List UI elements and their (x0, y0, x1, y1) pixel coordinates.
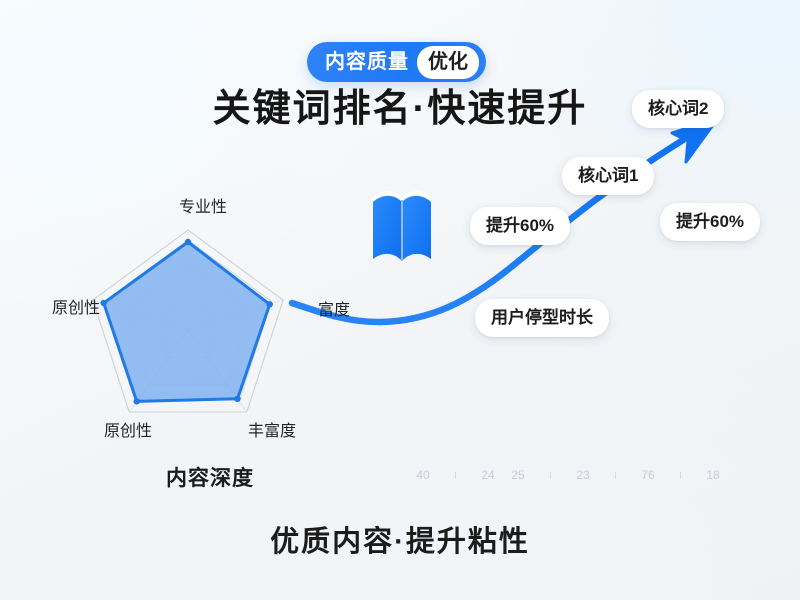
axis-tick-2: 25 (503, 469, 533, 481)
content-depth-label: 内容深度 (166, 468, 254, 489)
badge-main-label: 内容质量 (325, 52, 409, 72)
faint-axis-strip: 40 24 25 23 76 18 (408, 464, 768, 486)
radar-data-points (101, 239, 273, 405)
axis-tick-1: 24 (473, 469, 503, 481)
axis-tick-5: 18 (698, 469, 728, 481)
axis-tick-4: 76 (633, 469, 663, 481)
radar-axis-label-abundance: 丰富度 (248, 424, 296, 440)
radar-axis-label-originality-bottom: 原创性 (104, 424, 152, 440)
pill-keyword-1[interactable]: 核心词1 (562, 157, 654, 195)
radar-spokes (93, 230, 283, 412)
pill-uplift-left[interactable]: 提升60% (470, 207, 570, 245)
axis-tick-0: 40 (408, 469, 438, 481)
pill-user-duration[interactable]: 用户停型时长 (475, 299, 609, 337)
radar-grid (93, 230, 283, 412)
pill-keyword-2[interactable]: 核心词2 (632, 90, 724, 128)
radar-inner-rings (125, 264, 252, 385)
radar-axis-label-originality-left: 原创性 (52, 301, 100, 317)
pill-uplift-right[interactable]: 提升60% (660, 203, 760, 241)
axis-tick-mark (550, 472, 551, 479)
axis-tick-mark (615, 472, 616, 479)
badge-pill-label: 优化 (417, 46, 479, 79)
axis-tick-mark (455, 472, 456, 479)
radar-data-series (104, 242, 270, 401)
open-book-icon (370, 186, 434, 268)
page-subtitle: 优质内容·提升粘性 (0, 518, 800, 560)
radar-axis-label-professional: 专业性 (179, 200, 227, 216)
content-quality-badge[interactable]: 内容质量 优化 (307, 42, 486, 82)
poster-canvas: 内容质量 优化 关键词排名·快速提升 (0, 0, 800, 600)
axis-tick-mark (680, 472, 681, 479)
axis-tick-3: 23 (568, 469, 598, 481)
radar-axis-label-richness: 富度 (318, 303, 350, 319)
